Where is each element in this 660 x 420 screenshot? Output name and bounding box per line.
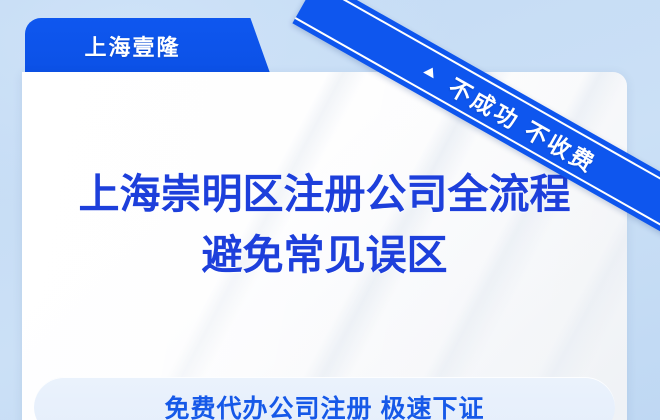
brand-tab-label: 上海壹隆 <box>25 18 240 73</box>
headline-line-1: 上海崇明区注册公司全流程 <box>22 164 627 225</box>
headline-line-2: 避免常见误区 <box>22 225 627 286</box>
cta-pill[interactable]: 免费代办公司注册 极速下证 <box>34 377 615 420</box>
cta-pill-label: 免费代办公司注册 极速下证 <box>165 389 485 420</box>
page-title: 上海崇明区注册公司全流程 避免常见误区 <box>22 164 627 285</box>
promo-banner: 上海壹隆 上海崇明区注册公司全流程 避免常见误区 免费代办公司注册 极速下证 不… <box>0 0 660 420</box>
brand-tab[interactable]: 上海壹隆 <box>25 18 270 73</box>
triangle-up-icon <box>423 65 438 79</box>
